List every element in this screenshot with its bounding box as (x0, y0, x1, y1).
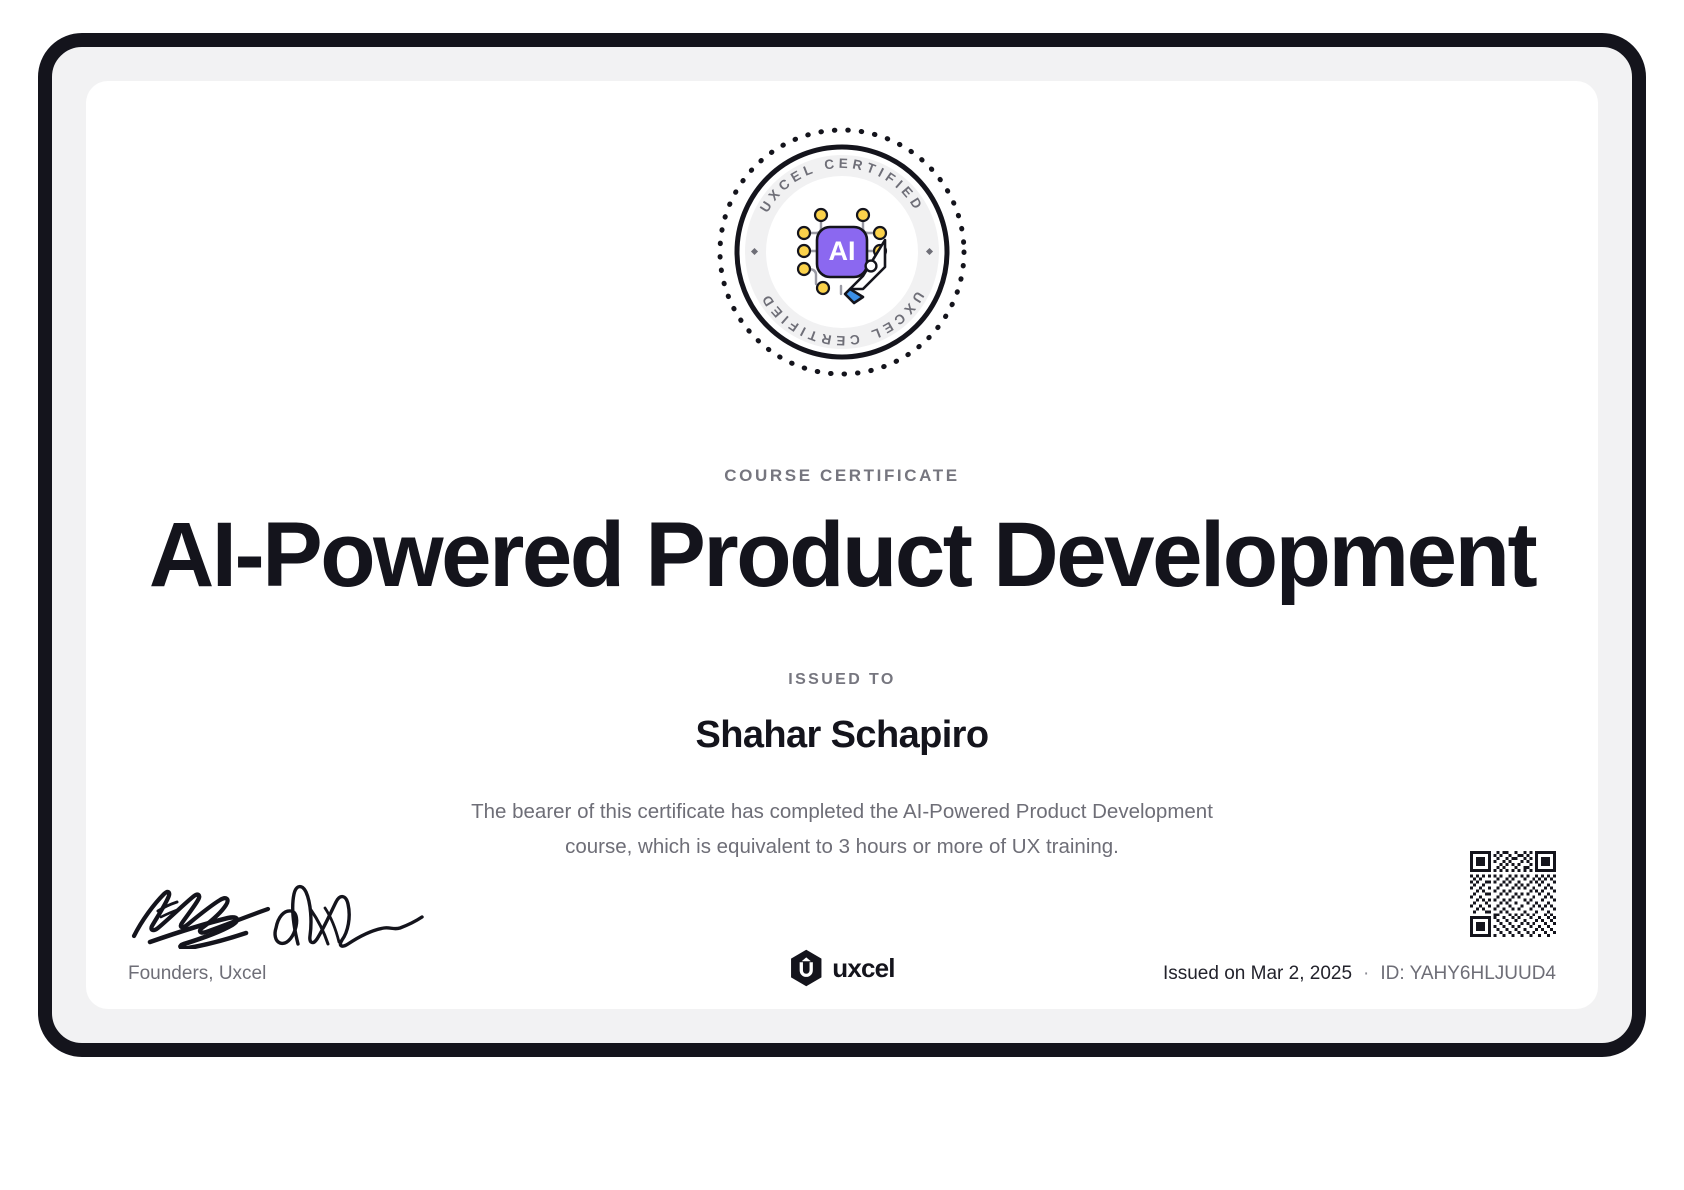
certificate-card: UXCEL CERTIFIED UXCEL CERTIFIED (86, 81, 1598, 1009)
certificate-frame: UXCEL CERTIFIED UXCEL CERTIFIED (38, 33, 1646, 1057)
qr-code-svg (1470, 851, 1556, 937)
uxcel-hex-logo-icon (789, 949, 823, 987)
eyebrow-label: COURSE CERTIFICATE (86, 466, 1598, 486)
qr-code-icon (1470, 851, 1556, 937)
meta-separator: · (1363, 963, 1369, 985)
certificate-id: ID: YAHY6HLJUUD4 (1380, 963, 1556, 985)
certificate-footer: Founders, Uxcel uxcel (86, 829, 1598, 1009)
founders-label: Founders, Uxcel (128, 963, 266, 985)
signatures-svg (128, 864, 428, 949)
page-title: AI-Powered Product Development (97, 509, 1586, 601)
uxcel-wordmark: uxcel (832, 953, 895, 984)
certification-seal: UXCEL CERTIFIED UXCEL CERTIFIED (713, 123, 971, 381)
ai-chip-label: AI (829, 236, 856, 266)
issue-date: Issued on Mar 2, 2025 (1163, 963, 1352, 985)
recipient-name: Shahar Schapiro (86, 714, 1598, 757)
issue-metadata: Issued on Mar 2, 2025 · ID: YAHY6HLJUUD4 (1163, 963, 1556, 985)
founders-signatures (128, 864, 428, 949)
seal-svg: UXCEL CERTIFIED UXCEL CERTIFIED (713, 123, 971, 381)
issued-to-label: ISSUED TO (86, 671, 1598, 689)
uxcel-brand-mark: uxcel (789, 949, 895, 987)
